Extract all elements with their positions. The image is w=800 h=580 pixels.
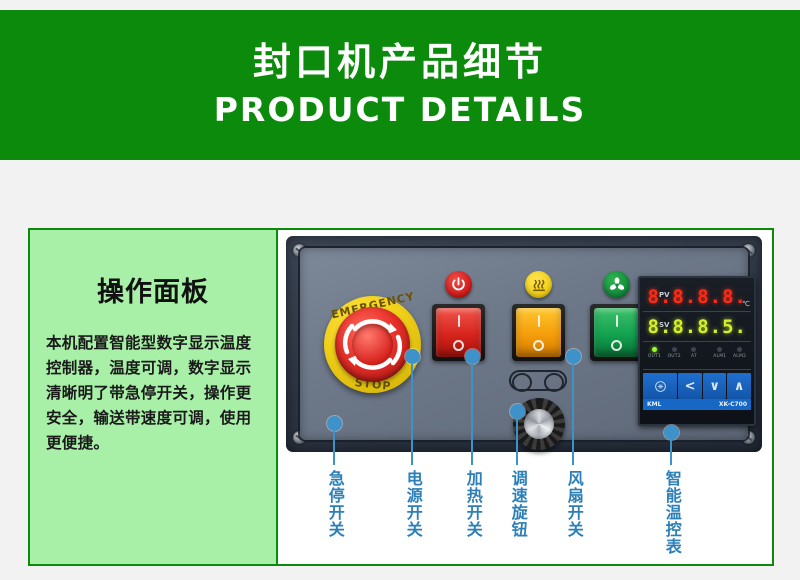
callout-dot <box>465 349 480 364</box>
switch-off-mark-icon <box>453 340 464 351</box>
info-card-body: 本机配置智能型数字显示温度控制器，温度可调，数字显示清晰明了带急停开关，操作更安… <box>46 331 260 457</box>
callout-fan-switch: 风扇开关 <box>565 349 582 538</box>
temperature-unit: ℃ <box>742 300 750 308</box>
set-button[interactable] <box>643 373 677 399</box>
led-indicator: ALM1 <box>711 347 728 359</box>
callout-line <box>670 440 672 465</box>
callout-emergency-stop: 急停开关 <box>326 416 343 538</box>
led-indicator: OUT1 <box>646 347 663 359</box>
led-label: OUT2 <box>666 354 683 359</box>
power-symbol-icon <box>450 276 467 293</box>
info-card: 操作面板 本机配置智能型数字显示温度控制器，温度可调，数字显示清晰明了带急停开关… <box>28 228 278 566</box>
left-button[interactable]: < <box>678 373 702 399</box>
led-dot-icon <box>672 347 677 352</box>
callout-line <box>516 419 518 465</box>
controller-brand: KML <box>647 401 661 408</box>
callout-label: 风扇开关 <box>565 470 582 538</box>
controller-model: XK-C700 <box>719 401 747 408</box>
fan-icon <box>603 271 630 298</box>
led-label: AT <box>686 354 703 359</box>
switch-on-mark-icon <box>616 315 618 327</box>
led-indicator: OUT2 <box>666 347 683 359</box>
callout-line <box>471 364 473 465</box>
callout-label: 电源开关 <box>404 470 421 538</box>
led-label: OUT1 <box>646 354 663 359</box>
switch-off-mark-icon <box>611 340 622 351</box>
callout-label: 加热开关 <box>464 470 481 538</box>
led-dot-icon <box>717 347 722 352</box>
header-banner: 封口机产品细节 PRODUCT DETAILS <box>0 10 800 160</box>
temperature-controller[interactable]: PV 8.8.8.8. ℃ SV 8.8.8.5. OUT1 <box>638 276 756 426</box>
sv-display-row: SV 8.8.8.5. <box>643 312 751 342</box>
fan-blades-icon <box>608 276 626 294</box>
fan-rocker-switch[interactable] <box>590 304 643 361</box>
emergency-stop-mushroom <box>352 324 393 365</box>
controller-brand-bar: KML XK-C700 <box>643 399 751 410</box>
pv-label: PV <box>659 291 670 299</box>
banner-title-en: PRODUCT DETAILS <box>214 90 587 129</box>
led-dot-icon <box>691 347 696 352</box>
callout-dot <box>566 349 581 364</box>
photo-card: EMERGENCY STOP <box>278 228 774 566</box>
knob-bracket-slot <box>509 370 567 391</box>
callout-dot <box>405 349 420 364</box>
callout-heat-switch: 加热开关 <box>464 349 481 538</box>
heat-icon <box>525 271 552 298</box>
controller-button-row: < ∨ ∧ <box>643 373 751 399</box>
content-area: 操作面板 本机配置智能型数字显示温度控制器，温度可调，数字显示清晰明了带急停开关… <box>28 228 774 566</box>
status-led-row: OUT1 OUT2 AT ALM1 <box>643 342 751 370</box>
switch-on-mark-icon <box>458 315 460 327</box>
callout-speed-knob: 调速旋钮 <box>509 404 526 538</box>
led-dot-icon <box>652 347 657 352</box>
callout-line <box>572 364 574 465</box>
led-indicator: AT <box>686 347 703 359</box>
power-icon <box>445 271 472 298</box>
led-label: ALM2 <box>731 354 748 359</box>
down-button[interactable]: ∨ <box>703 373 727 399</box>
callout-dot <box>510 404 525 419</box>
callout-power-switch: 电源开关 <box>404 349 421 538</box>
heat-rocker-switch[interactable] <box>512 304 565 361</box>
callout-label: 调速旋钮 <box>509 470 526 538</box>
callout-temp-controller: 智能温控表 <box>663 425 680 555</box>
emergency-stop-cap[interactable] <box>335 307 410 382</box>
heat-rocker-face[interactable] <box>516 308 561 357</box>
fan-rocker-face[interactable] <box>594 308 639 357</box>
callout-dot <box>327 416 342 431</box>
set-loop-icon <box>654 380 667 393</box>
info-card-title: 操作面板 <box>46 270 260 309</box>
up-button[interactable]: ∧ <box>727 373 751 399</box>
callout-label: 智能温控表 <box>663 470 680 555</box>
switch-off-mark-icon <box>533 340 544 351</box>
led-indicator: ALM2 <box>731 347 748 359</box>
speed-knob-cap <box>524 409 554 439</box>
callout-label: 急停开关 <box>326 470 343 538</box>
led-label: ALM1 <box>711 354 728 359</box>
callout-dot <box>664 425 679 440</box>
led-dot-icon <box>737 347 742 352</box>
callout-line <box>411 364 413 465</box>
pv-display-row: PV 8.8.8.8. ℃ <box>643 282 751 312</box>
banner-title-cn: 封口机产品细节 <box>253 41 547 85</box>
sv-label: SV <box>659 321 669 329</box>
switch-on-mark-icon <box>538 315 540 327</box>
callout-line <box>333 431 335 465</box>
heat-waves-icon <box>530 276 548 294</box>
